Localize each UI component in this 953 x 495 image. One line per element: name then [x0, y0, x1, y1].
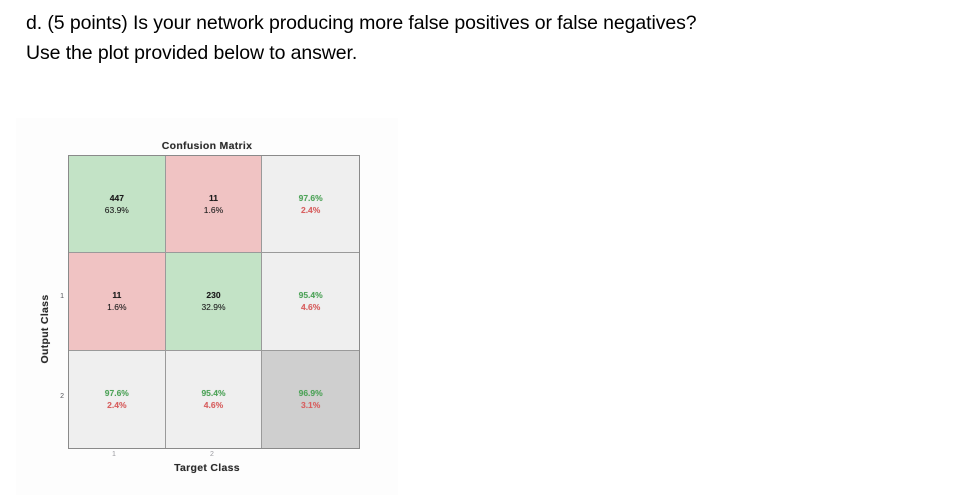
cell-bad-percent: 4.6% — [204, 399, 223, 411]
cell-good-percent: 95.4% — [201, 387, 225, 399]
matrix-cell-1-2: 11 1.6% — [166, 156, 263, 253]
cell-percent: 32.9% — [201, 301, 225, 313]
matrix-cell-2-3-precision: 95.4% 4.6% — [262, 253, 359, 350]
x-axis-tick-1: 1 — [108, 451, 120, 458]
y-axis-label: Output Class — [39, 274, 51, 384]
cell-percent: 1.6% — [107, 301, 126, 313]
question-line-1: d. (5 points) Is your network producing … — [26, 8, 931, 38]
matrix-cell-1-3-precision: 97.6% 2.4% — [262, 156, 359, 253]
confusion-matrix-grid: 447 63.9% 11 1.6% 97.6% 2.4% 11 1.6% 230… — [68, 155, 360, 449]
cell-bad-percent: 3.1% — [301, 399, 320, 411]
cell-count: 447 — [110, 192, 124, 204]
cell-bad-percent: 2.4% — [301, 204, 320, 216]
chart-title: Confusion Matrix — [16, 140, 398, 152]
cell-bad-percent: 4.6% — [301, 301, 320, 313]
question-line-2: Use the plot provided below to answer. — [26, 38, 931, 68]
matrix-cell-3-1-recall: 97.6% 2.4% — [69, 351, 166, 448]
matrix-cell-1-1: 447 63.9% — [69, 156, 166, 253]
y-axis-tick-1: 1 — [52, 293, 64, 300]
cell-good-percent: 97.6% — [105, 387, 129, 399]
cell-good-percent: 96.9% — [299, 387, 323, 399]
cell-count: 11 — [209, 192, 218, 204]
matrix-cell-2-2: 230 32.9% — [166, 253, 263, 350]
confusion-matrix-figure: Confusion Matrix Output Class Target Cla… — [16, 118, 398, 495]
matrix-cell-3-3-overall-accuracy: 96.9% 3.1% — [262, 351, 359, 448]
cell-percent: 63.9% — [105, 204, 129, 216]
cell-good-percent: 95.4% — [299, 289, 323, 301]
x-axis-label: Target Class — [16, 462, 398, 474]
question-text: d. (5 points) Is your network producing … — [26, 8, 931, 68]
matrix-cell-3-2-recall: 95.4% 4.6% — [166, 351, 263, 448]
cell-count: 230 — [206, 289, 220, 301]
cell-count: 11 — [112, 289, 121, 301]
y-axis-tick-2: 2 — [52, 393, 64, 400]
cell-good-percent: 97.6% — [299, 192, 323, 204]
cell-bad-percent: 2.4% — [107, 399, 126, 411]
cell-percent: 1.6% — [204, 204, 223, 216]
matrix-cell-2-1: 11 1.6% — [69, 253, 166, 350]
x-axis-tick-2: 2 — [206, 451, 218, 458]
